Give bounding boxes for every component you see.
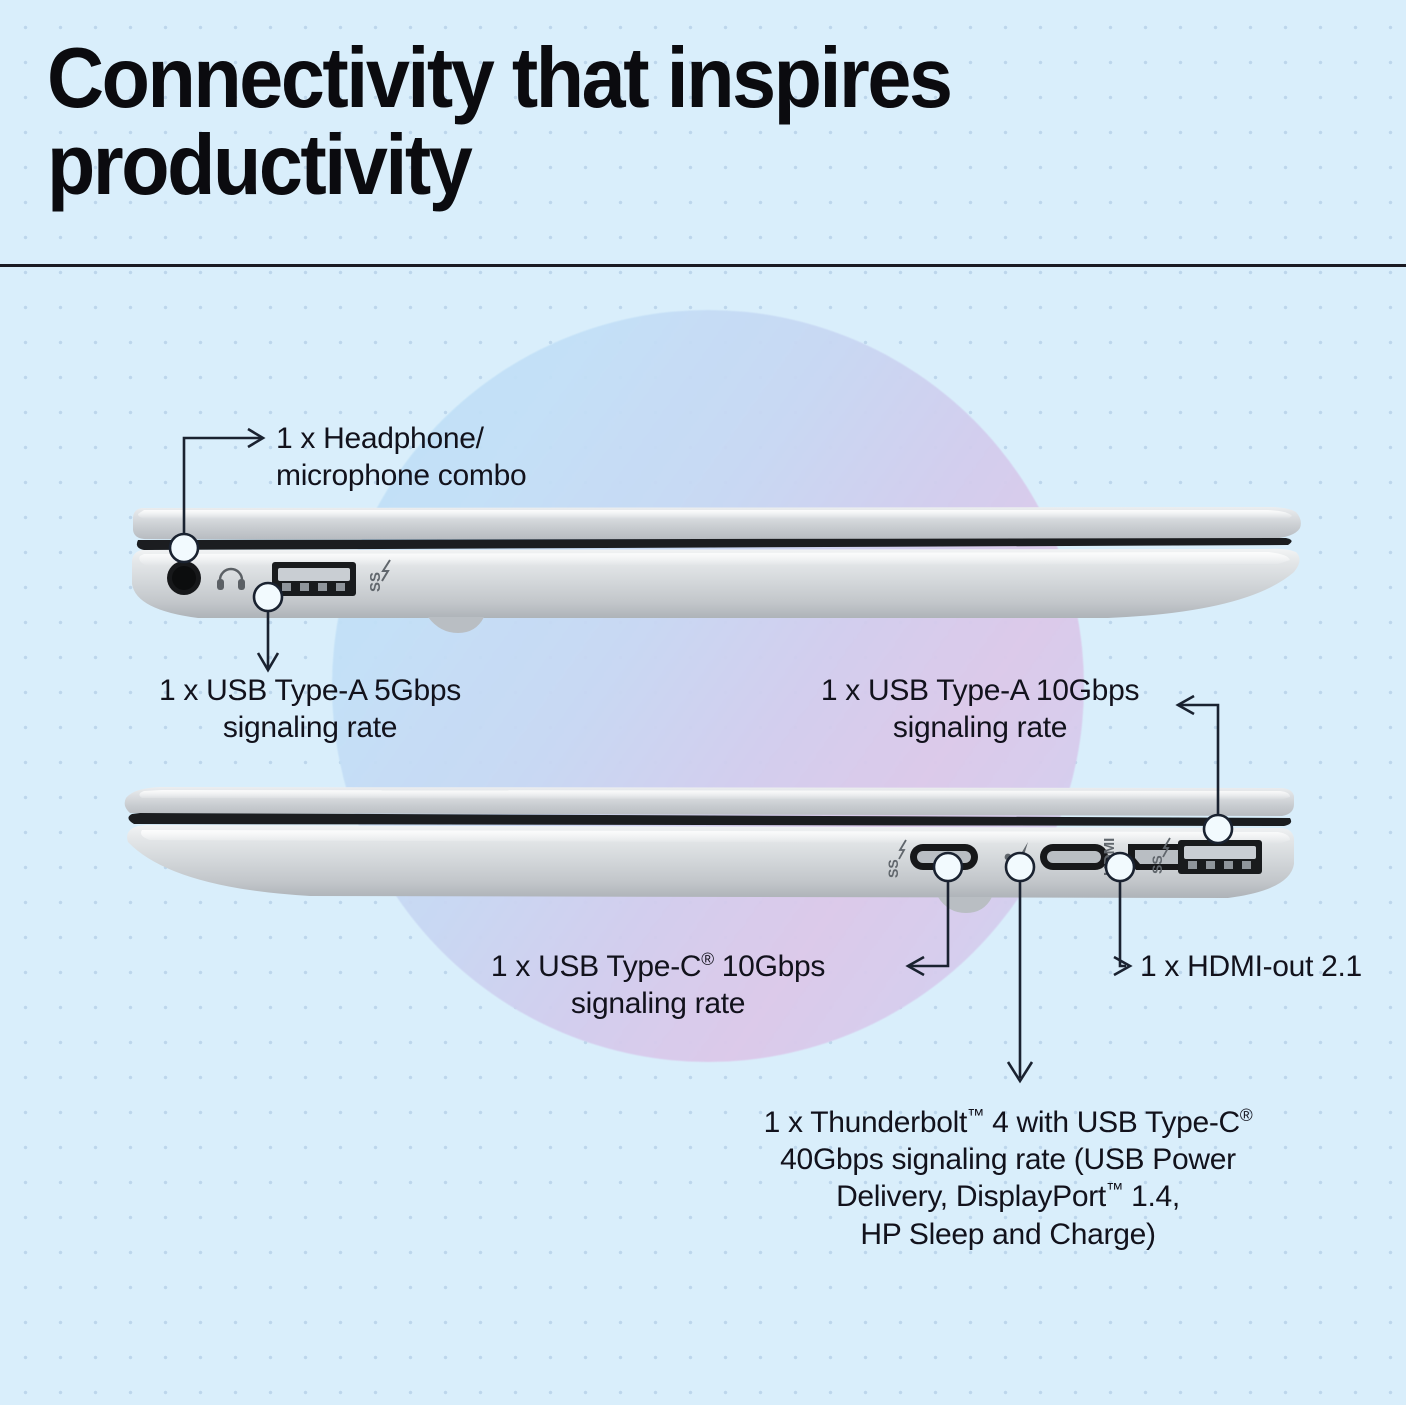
registered-symbol-typec: ® <box>1240 1105 1253 1125</box>
infographic-page: SS <box>0 0 1406 1405</box>
tb-line3-after: 1.4, <box>1123 1180 1180 1213</box>
annotation-usb-type-a-5gbps: 1 x USB Type-A 5Gbps signaling rate <box>60 672 560 746</box>
annotation-hdmi-out: 1 x HDMI-out 2.1 <box>1140 948 1406 985</box>
annotation-thunderbolt-4: 1 x Thunderbolt™ 4 with USB Type-C®40Gbp… <box>690 1104 1326 1253</box>
annotation-usb-type-c-10gbps: 1 x USB Type-C® 10Gbps signaling rate <box>430 948 886 1022</box>
headline-line-2: productivity <box>47 123 1163 210</box>
tb-line4: HP Sleep and Charge) <box>860 1218 1155 1251</box>
header-band: Connectivity that inspires productivity <box>0 0 1406 266</box>
svg-text:SS: SS <box>1149 855 1165 874</box>
usb-type-c-port <box>910 844 978 870</box>
hdmi-label: HDMI <box>1101 838 1118 876</box>
laptop-top-profile: SS <box>128 500 1308 635</box>
svg-text:SS: SS <box>885 859 901 878</box>
annotation-usb-type-a-10gbps: 1 x USB Type-A 10Gbps signaling rate <box>770 672 1190 746</box>
trademark-symbol-displayport: ™ <box>1106 1179 1123 1199</box>
tb-line3-before: Delivery, DisplayPort <box>836 1180 1106 1213</box>
header-divider <box>0 264 1406 267</box>
laptop-bottom-profile: SS HDMI SS <box>110 780 1300 915</box>
headline-line-1: Connectivity that inspires <box>47 31 950 126</box>
annotation-headphone-combo: 1 x Headphone/ microphone combo <box>276 420 706 494</box>
trademark-symbol-thunderbolt: ™ <box>967 1105 984 1125</box>
tb-line2: 40Gbps signaling rate (USB Power <box>780 1143 1236 1176</box>
tb-line1-after: 4 with USB Type-C <box>984 1106 1240 1139</box>
svg-text:SS: SS <box>367 572 384 592</box>
registered-trademark-symbol: ® <box>701 949 714 969</box>
thunderbolt-port <box>1040 844 1108 870</box>
usbc-text-before: 1 x USB Type-C <box>491 950 701 983</box>
tb-line1-before: 1 x Thunderbolt <box>764 1106 967 1139</box>
page-title: Connectivity that inspires productivity <box>47 36 1163 209</box>
